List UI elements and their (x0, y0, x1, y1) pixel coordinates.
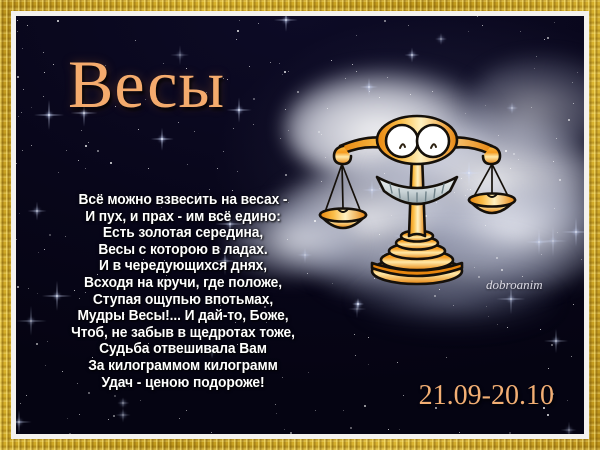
star (354, 334, 355, 335)
sparkle-core (238, 109, 240, 111)
star (541, 254, 542, 255)
star (285, 174, 287, 176)
star (249, 66, 250, 67)
sparkle-core (552, 240, 554, 242)
star (217, 168, 218, 169)
star (288, 71, 289, 72)
star (88, 392, 90, 394)
star (534, 68, 535, 69)
star (114, 395, 116, 397)
star (544, 39, 545, 40)
sparkle-core (411, 54, 413, 56)
star (536, 56, 537, 57)
sparkle-star (544, 329, 568, 353)
star (540, 329, 541, 330)
star (21, 112, 22, 113)
sparkle-core (122, 402, 124, 404)
sparkle-core (510, 298, 512, 300)
page-title: Весы (68, 50, 225, 118)
sparkle-star (353, 299, 365, 311)
star (275, 404, 276, 405)
poem-line: Весы с которою в ладах. (36, 242, 330, 259)
star (22, 150, 23, 151)
poem-line: И в чередующихся днях, (36, 258, 330, 275)
star (18, 116, 19, 117)
star (67, 418, 68, 419)
sparkle-star (118, 397, 129, 408)
star (355, 355, 356, 356)
star (297, 91, 299, 93)
sparkle-star (116, 408, 131, 423)
star (571, 356, 572, 357)
star (399, 429, 400, 430)
star (356, 35, 357, 36)
star (43, 52, 44, 53)
star (85, 145, 87, 147)
star (387, 77, 388, 78)
star (531, 107, 532, 108)
star (315, 410, 316, 411)
star (19, 213, 20, 214)
sparkle-core (538, 241, 540, 243)
star (482, 25, 483, 26)
star (554, 208, 555, 209)
star (78, 160, 79, 161)
date-range-label: 21.09-20.10 (419, 380, 554, 412)
star (556, 138, 557, 139)
star (270, 62, 271, 63)
star (547, 37, 549, 39)
sparkle-core (285, 19, 287, 21)
star (432, 91, 433, 92)
poem-line: Судьба отвешивала Вам (36, 341, 330, 358)
sparkle-star (526, 229, 552, 255)
star (237, 30, 239, 32)
star (446, 357, 447, 358)
star (486, 306, 487, 307)
star (485, 105, 486, 106)
star (223, 151, 224, 152)
poem-line: Мудры Весы!... И дай-то, Боже, (36, 308, 330, 325)
night-sky-background: Весы Всё можно взвесить на весах -И пух,… (16, 16, 584, 434)
star (554, 22, 555, 23)
star (368, 337, 369, 338)
star (568, 119, 570, 121)
star (553, 161, 554, 162)
star (209, 189, 210, 190)
sparkle-star (349, 301, 367, 319)
star (43, 96, 44, 97)
star (410, 94, 411, 95)
star (44, 72, 45, 73)
star (178, 122, 179, 123)
star (369, 91, 370, 92)
star (17, 31, 18, 32)
star (509, 432, 511, 434)
star (26, 395, 27, 396)
star (397, 362, 398, 363)
star (408, 25, 409, 26)
star (384, 20, 386, 22)
star (58, 172, 59, 173)
star (551, 344, 553, 346)
star (138, 129, 139, 130)
star (352, 64, 353, 65)
star (567, 400, 568, 401)
star (16, 239, 17, 240)
star (23, 89, 24, 90)
star (557, 232, 558, 233)
star (66, 150, 67, 151)
star (290, 432, 292, 434)
star (434, 295, 436, 297)
star (258, 23, 259, 24)
star (227, 79, 228, 80)
star (194, 131, 195, 132)
sparkle-core (575, 231, 577, 233)
poem-line: И пух, и прах - им всё едино: (36, 209, 330, 226)
star (186, 410, 187, 411)
poem-line: Ступая ощупью впотьмах, (36, 292, 330, 309)
star (581, 259, 582, 260)
sparkle-core (368, 86, 370, 88)
star (356, 71, 357, 72)
sparkle-star (226, 98, 251, 123)
star (232, 190, 233, 191)
star (31, 145, 32, 146)
star (350, 427, 352, 429)
star (577, 72, 578, 73)
poem-line: Всё можно взвесить на весах - (36, 192, 330, 209)
star (280, 138, 281, 139)
star (345, 78, 346, 79)
star (211, 432, 212, 433)
star (140, 400, 141, 401)
star (403, 395, 404, 396)
star (187, 164, 188, 165)
poem-text: Всё можно взвесить на весах -И пух, и пр… (30, 192, 336, 391)
star (477, 16, 478, 17)
star (364, 405, 366, 407)
star (31, 107, 32, 108)
sparkle-star (560, 422, 577, 434)
balance-scales-icon (312, 108, 522, 288)
star (85, 168, 86, 169)
star (520, 31, 521, 32)
sparkle-core (356, 308, 358, 310)
poem-line: Всходя на кручи, где положе, (36, 275, 330, 292)
star (57, 20, 59, 22)
star (331, 60, 332, 61)
star (284, 429, 285, 430)
poem-line: Удач - ценою подороже! (36, 375, 330, 392)
sparkle-star (360, 78, 378, 96)
star (233, 128, 234, 129)
star (239, 20, 240, 21)
star (279, 63, 280, 64)
star (88, 142, 89, 143)
star (20, 403, 21, 404)
star (79, 414, 80, 415)
star (572, 82, 573, 83)
sparkle-core (568, 429, 570, 431)
star (559, 179, 561, 181)
star (284, 71, 286, 73)
star (113, 415, 115, 417)
star (253, 98, 255, 100)
sparkle-star (435, 33, 447, 45)
sparkle-star (561, 217, 584, 246)
sparkle-star (404, 48, 419, 63)
star (548, 368, 549, 369)
star (439, 289, 440, 290)
watermark-label: dobroanim (486, 277, 543, 293)
star (388, 429, 389, 430)
sparkle-star (16, 410, 31, 434)
star (288, 130, 289, 131)
star (368, 364, 369, 365)
star (276, 413, 277, 414)
star (459, 432, 460, 433)
sparkle-core (555, 340, 557, 342)
star (573, 304, 574, 305)
star (497, 324, 498, 325)
star (22, 48, 23, 49)
star (237, 171, 238, 172)
star (16, 163, 17, 164)
star (179, 418, 180, 419)
star (468, 31, 469, 32)
sparkle-core (357, 303, 359, 305)
sparkle-star (151, 128, 174, 151)
sparkle-star (34, 100, 64, 130)
star (488, 316, 489, 317)
star (547, 414, 549, 416)
poem-line: Есть золотая середина, (36, 225, 330, 242)
star (81, 130, 82, 131)
star (253, 124, 254, 125)
star (573, 103, 574, 104)
star (285, 109, 286, 110)
star (17, 286, 19, 288)
star (97, 150, 99, 152)
star (343, 410, 344, 411)
poem-line: За килограммом килограмм (36, 358, 330, 375)
star (108, 419, 109, 420)
sparkle-star (538, 226, 568, 256)
sparkle-core (48, 114, 50, 116)
sparkle-star (274, 16, 298, 32)
star (27, 25, 28, 26)
poem-line: Чтоб, не забыв в щедротах тоже, (36, 325, 330, 342)
sparkle-core (161, 138, 163, 140)
sparkle-core (122, 414, 124, 416)
star (148, 168, 149, 169)
star (379, 97, 380, 98)
star (507, 327, 508, 328)
sparkle-core (440, 38, 442, 40)
star (69, 433, 71, 434)
star (53, 64, 54, 65)
star (110, 162, 112, 164)
sparkle-core (18, 421, 20, 423)
star (453, 305, 454, 306)
star (236, 39, 237, 40)
star (17, 20, 18, 21)
star (135, 40, 136, 41)
zodiac-libra-card: Весы Всё можно взвесить на весах -И пух,… (0, 0, 600, 450)
star (17, 76, 19, 78)
star (282, 74, 283, 75)
